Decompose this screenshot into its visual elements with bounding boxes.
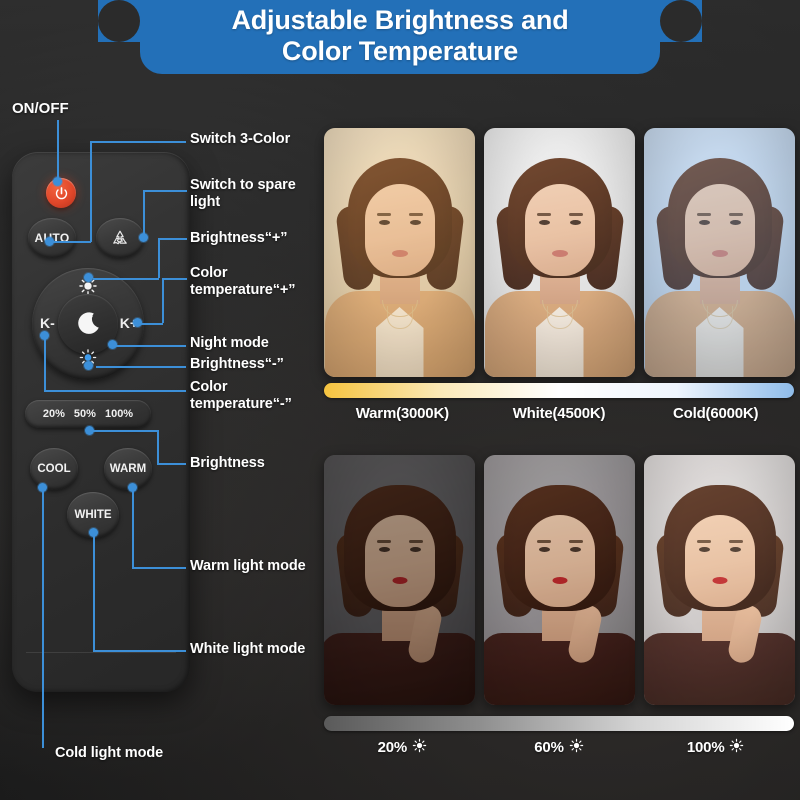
leader-night-mode — [113, 345, 186, 347]
dot-brightness — [85, 426, 94, 435]
label-brightness-100: 100% — [637, 738, 794, 756]
portrait-white-4500k — [484, 128, 635, 377]
brightness-preset-50: 50% — [74, 408, 96, 420]
leader-white-v — [93, 533, 95, 651]
dot-brightness-plus — [84, 273, 93, 282]
color-temperature-photo-row — [324, 128, 795, 377]
label-brightness-60: 60% — [481, 738, 638, 756]
power-icon — [54, 186, 69, 201]
dot-switch-3color — [45, 237, 54, 246]
label-brightness-60-text: 60% — [534, 739, 563, 756]
brightness-photo-row — [324, 455, 795, 705]
label-brightness-20-text: 20% — [378, 739, 407, 756]
dot-brightness-minus — [84, 361, 93, 370]
brightness-preset-100: 100% — [105, 408, 133, 420]
leader-ct-minus-v — [44, 335, 46, 391]
callout-color-temp-plus: Color temperature“+” — [190, 265, 295, 300]
leader-switch-3color-h2 — [49, 241, 91, 243]
white-button-label: WHITE — [74, 509, 111, 521]
leader-spare-h — [143, 190, 187, 192]
dot-white-light — [89, 528, 98, 537]
leader-bright-plus-h2 — [93, 278, 159, 280]
portrait-warm-3000k — [324, 128, 475, 377]
leader-white-h — [93, 650, 186, 652]
label-warm-3000k: Warm(3000K) — [324, 405, 481, 422]
leader-spare-v — [143, 190, 145, 238]
remote-seam — [26, 652, 176, 653]
callout-white-light-mode: White light mode — [190, 641, 305, 658]
leader-brightness-v — [157, 430, 159, 463]
leader-ct-plus-h — [162, 278, 187, 280]
sun-icon — [412, 738, 427, 756]
banner-notch-right — [660, 0, 702, 42]
header-banner: Adjustable Brightness and Color Temperat… — [140, 0, 660, 74]
leader-bright-minus — [96, 366, 186, 368]
dot-color-temp-minus — [40, 331, 49, 340]
leader-warm-v — [132, 488, 134, 568]
dot-color-temp-plus — [133, 318, 142, 327]
callout-brightness-minus: Brightness“-” — [190, 356, 284, 373]
label-white-4500k: White(4500K) — [481, 405, 638, 422]
dot-spare-light — [139, 233, 148, 242]
callout-warm-light-mode: Warm light mode — [190, 558, 306, 575]
brightness-labels: 20% 60% 100% — [324, 738, 794, 756]
leader-warm-h — [132, 567, 186, 569]
callout-cold-light-mode: Cold light mode — [55, 745, 163, 762]
dot-on-off — [53, 177, 62, 186]
callout-switch-spare-light: Switch to spare light — [190, 177, 296, 212]
color-temperature-labels: Warm(3000K) White(4500K) Cold(6000K) — [324, 405, 794, 422]
brightness-presets-button[interactable]: 20% 50% 100% — [25, 400, 151, 428]
leader-ct-plus-h2 — [141, 323, 163, 325]
portrait-brightness-20 — [324, 455, 475, 705]
sun-icon — [729, 738, 744, 756]
color-temp-down-button[interactable]: K- — [40, 315, 55, 331]
leader-bright-plus-h — [158, 238, 187, 240]
dot-night-mode — [108, 340, 117, 349]
label-brightness-20: 20% — [324, 738, 481, 756]
leader-brightness-h — [89, 430, 158, 432]
leader-ct-minus-h — [44, 390, 186, 392]
leader-switch-3color-h — [90, 141, 186, 143]
label-cold-6000k: Cold(6000K) — [637, 405, 794, 422]
portrait-brightness-60 — [484, 455, 635, 705]
page-title: Adjustable Brightness and Color Temperat… — [231, 0, 568, 67]
leader-bright-plus-v — [158, 238, 160, 278]
sun-icon — [569, 738, 584, 756]
cool-light-button[interactable]: COOL — [30, 448, 78, 490]
label-brightness-100-text: 100% — [687, 739, 725, 756]
label-on-off: ON/OFF — [12, 100, 69, 117]
moon-star-icon — [73, 309, 103, 339]
leader-cold-v — [42, 488, 44, 748]
cool-button-label: COOL — [37, 463, 70, 475]
recycle-icon — [109, 227, 131, 249]
leader-switch-3color-v — [90, 141, 92, 242]
spare-light-button[interactable] — [96, 218, 144, 258]
callout-switch-3-color: Switch 3-Color — [190, 131, 290, 148]
dot-cold-light — [38, 483, 47, 492]
dot-warm-light — [128, 483, 137, 492]
portrait-cold-6000k — [644, 128, 795, 377]
brightness-gradient-bar — [324, 716, 794, 731]
callout-brightness-plus: Brightness“+” — [190, 230, 287, 247]
callout-night-mode: Night mode — [190, 335, 269, 352]
callout-brightness: Brightness — [190, 455, 265, 472]
warm-button-label: WARM — [110, 463, 146, 475]
callout-color-temp-minus: Color temperature“-” — [190, 379, 292, 414]
portrait-brightness-100 — [644, 455, 795, 705]
leader-ct-plus-v — [162, 278, 164, 323]
banner-notch-left — [98, 0, 140, 42]
color-temperature-gradient-bar — [324, 383, 794, 398]
brightness-preset-20: 20% — [43, 408, 65, 420]
leader-on-off — [57, 120, 59, 182]
product-infographic: Adjustable Brightness and Color Temperat… — [0, 0, 800, 800]
leader-brightness-h2 — [157, 463, 186, 465]
